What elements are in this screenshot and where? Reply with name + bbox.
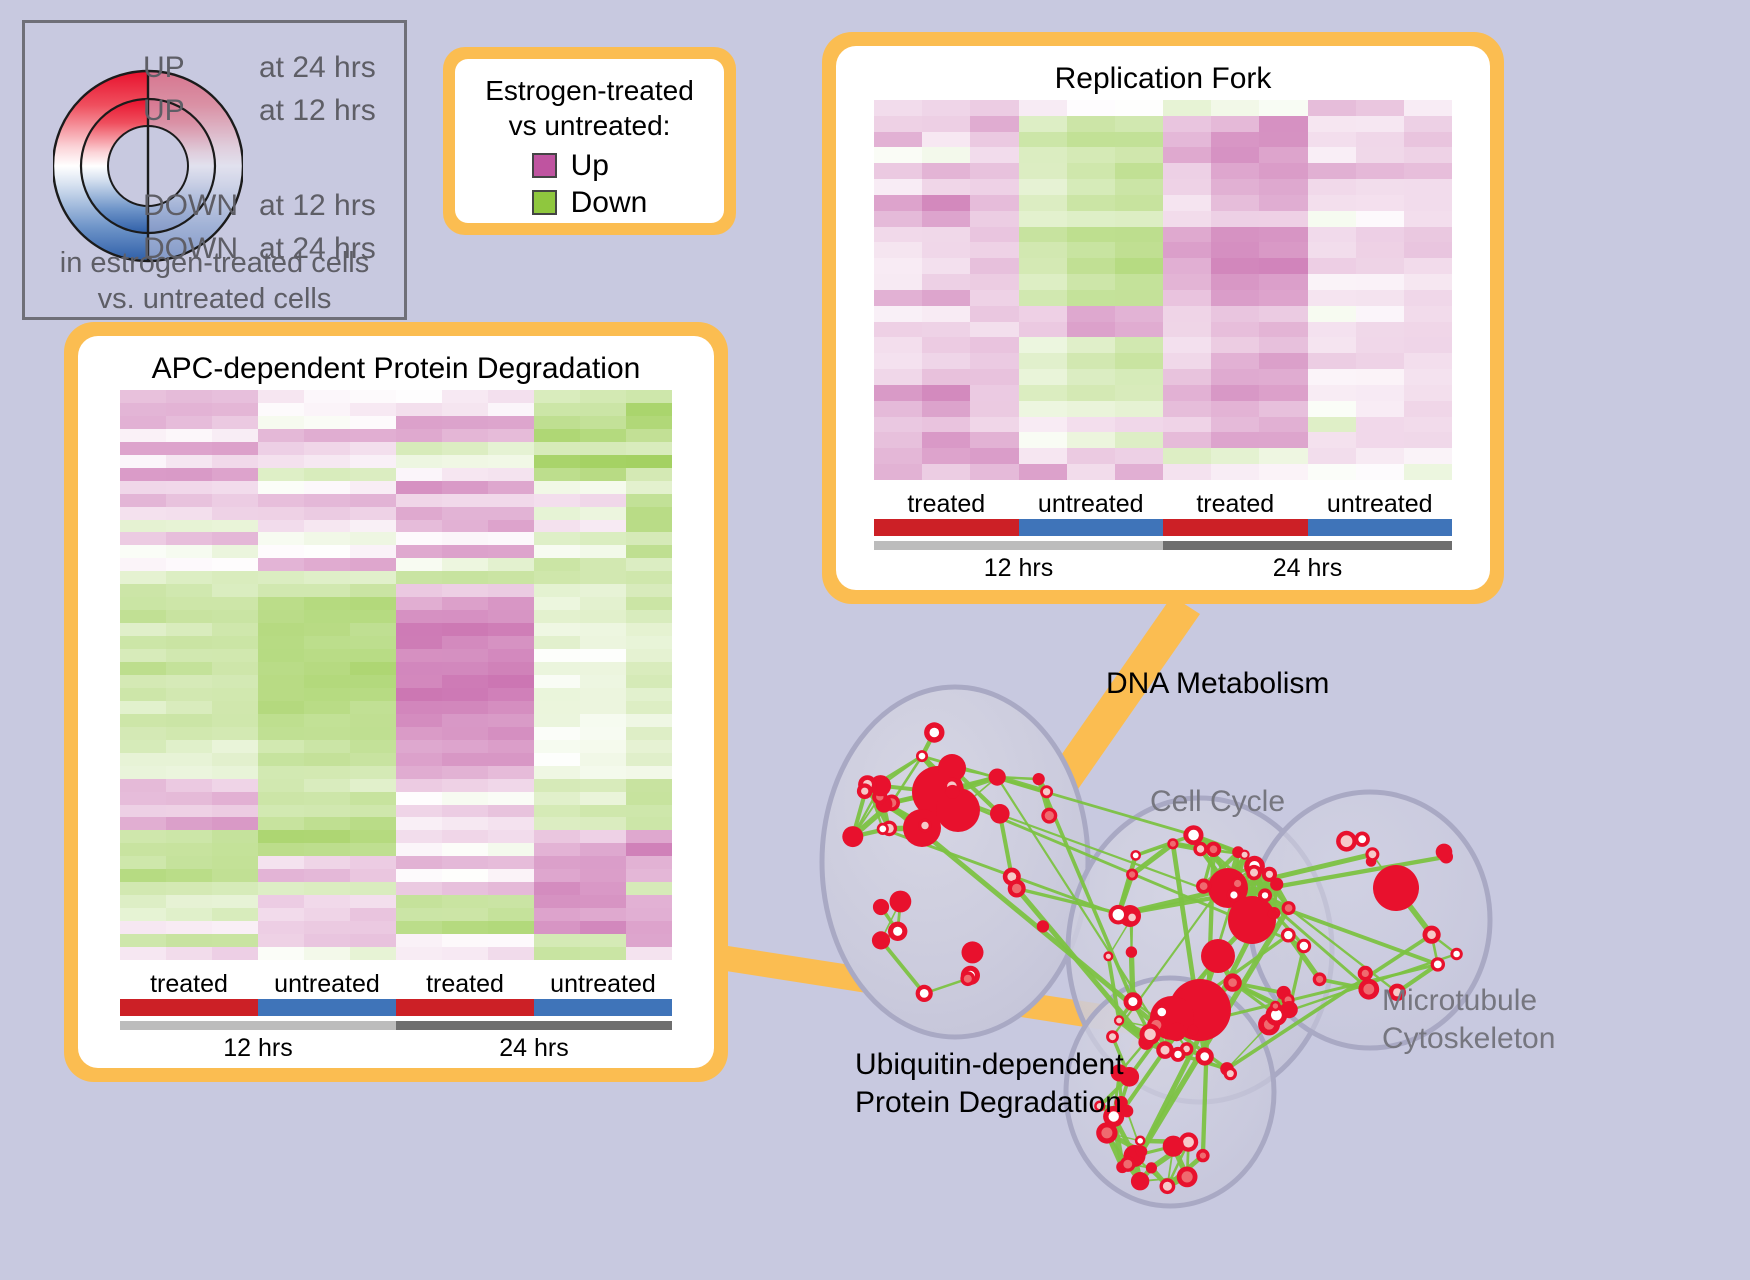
heatmap-cell: [304, 403, 350, 416]
group-label: untreated: [534, 970, 672, 999]
cluster-label-ubiquitin-line1: Ubiquitin-dependent: [855, 1046, 1124, 1084]
heatmap-cell: [488, 636, 534, 649]
cluster-label-dna-metabolism: DNA Metabolism: [1106, 665, 1329, 703]
heatmap-cell: [350, 429, 396, 442]
heatmap-cell: [166, 882, 212, 895]
heatmap-cell: [1308, 464, 1356, 480]
heatmap-cell: [258, 597, 304, 610]
heatmap-cell: [258, 727, 304, 740]
heatmap-cell: [350, 934, 396, 947]
network-node-core: [919, 753, 926, 760]
heatmap-cell: [120, 779, 166, 792]
figure-canvas: UP at 24 hrs UP at 12 hrs DOWN at 12 hrs…: [0, 0, 1750, 1279]
heatmap-cell: [350, 792, 396, 805]
network-node-core: [1163, 1182, 1172, 1191]
heatmap-cell: [120, 701, 166, 714]
heatmap-cell: [166, 571, 212, 584]
network-node-core: [1128, 997, 1137, 1006]
heatmap-cell: [442, 766, 488, 779]
heatmap-cell: [534, 455, 580, 468]
group-label: treated: [874, 490, 1019, 519]
heatmap-cell: [258, 805, 304, 818]
heatmap-cell: [922, 290, 970, 306]
heatmap-cell: [1019, 211, 1067, 227]
replication-fork-axis: treated untreated treated untreated 12 h: [874, 490, 1452, 583]
replication-fork-panel: Replication Fork treated untreated treat…: [822, 32, 1504, 604]
colorbar-time: at 12 hrs: [259, 94, 376, 128]
heatmap-cell: [258, 701, 304, 714]
heatmap-cell: [626, 610, 672, 623]
heatmap-cell: [166, 701, 212, 714]
heatmap-cell: [442, 532, 488, 545]
heatmap-cell: [166, 558, 212, 571]
heatmap-cell: [166, 714, 212, 727]
colorbar-time: at 24 hrs: [259, 51, 376, 85]
heatmap-cell: [626, 468, 672, 481]
network-node: [990, 804, 1010, 824]
heatmap-cell: [1259, 258, 1307, 274]
heatmap-cell: [1019, 274, 1067, 290]
heatmap-cell: [874, 401, 922, 417]
heatmap-cell: [580, 882, 626, 895]
heatmap-cell: [534, 856, 580, 869]
heatmap-cell: [442, 701, 488, 714]
heatmap-cell: [580, 481, 626, 494]
heatmap-cell: [1115, 306, 1163, 322]
heatmap-cell: [258, 390, 304, 403]
heatmap-cell: [1163, 417, 1211, 433]
network-node: [1131, 1172, 1149, 1190]
heatmap-cell: [166, 856, 212, 869]
heatmap-cell: [626, 636, 672, 649]
heatmap-cell: [534, 636, 580, 649]
heatmap-cell: [534, 507, 580, 520]
heatmap-cell: [350, 675, 396, 688]
heatmap-cell: [442, 416, 488, 429]
heatmap-cell: [1308, 242, 1356, 258]
heatmap-cell: [534, 908, 580, 921]
heatmap-cell: [304, 507, 350, 520]
heatmap-cell: [442, 947, 488, 960]
heatmap-cell: [442, 869, 488, 882]
heatmap-cell: [488, 856, 534, 869]
heatmap-cell: [304, 455, 350, 468]
heatmap-cell: [1259, 195, 1307, 211]
heatmap-cell: [442, 429, 488, 442]
heatmap-cell: [580, 468, 626, 481]
heatmap-cell: [874, 417, 922, 433]
network-node-core: [964, 975, 972, 983]
heatmap-cell: [1404, 432, 1452, 448]
heatmap-cell: [874, 147, 922, 163]
timepoint-color-bar: [120, 1021, 672, 1030]
heatmap-cell: [258, 830, 304, 843]
heatmap-cell: [212, 805, 258, 818]
heatmap-cell: [120, 947, 166, 960]
heatmap-cell: [1404, 195, 1452, 211]
heatmap-cell: [1019, 401, 1067, 417]
heatmap-cell: [1115, 322, 1163, 338]
heatmap-cell: [1211, 464, 1259, 480]
heatmap-cell: [120, 403, 166, 416]
heatmap-cell: [304, 610, 350, 623]
heatmap-cell: [874, 448, 922, 464]
heatmap-cell: [1067, 100, 1115, 116]
heatmap-cell: [1211, 417, 1259, 433]
heatmap-cell: [1404, 163, 1452, 179]
network-node: [946, 785, 960, 799]
group-label: treated: [396, 970, 534, 999]
heatmap-cell: [534, 934, 580, 947]
heatmap-cell: [534, 792, 580, 805]
heatmap-cell: [1067, 306, 1115, 322]
network-node-core: [1262, 892, 1268, 898]
heatmap-cell: [488, 545, 534, 558]
heatmap-cell: [626, 817, 672, 830]
heatmap-cell: [350, 571, 396, 584]
heatmap-cell: [1115, 337, 1163, 353]
heatmap-cell: [1163, 227, 1211, 243]
expression-colorbar-legend: UP at 24 hrs UP at 12 hrs DOWN at 12 hrs…: [22, 20, 407, 320]
heatmap-cell: [304, 701, 350, 714]
heatmap-cell: [396, 520, 442, 533]
group-label: treated: [120, 970, 258, 999]
heatmap-cell: [1163, 432, 1211, 448]
heatmap-cell: [212, 947, 258, 960]
heatmap-cell: [1019, 417, 1067, 433]
heatmap-cell: [874, 179, 922, 195]
heatmap-cell: [304, 636, 350, 649]
network-node-core: [1230, 891, 1237, 898]
heatmap-cell: [212, 727, 258, 740]
heatmap-cell: [1067, 179, 1115, 195]
heatmap-cell: [1067, 132, 1115, 148]
heatmap-cell: [396, 636, 442, 649]
heatmap-cell: [580, 675, 626, 688]
colorbar-time: at 12 hrs: [259, 189, 376, 223]
heatmap-cell: [442, 390, 488, 403]
heatmap-cell: [534, 869, 580, 882]
heatmap-cell: [874, 464, 922, 480]
network-node-core: [1358, 835, 1366, 843]
heatmap-cell: [1308, 369, 1356, 385]
heatmap-cell: [1259, 100, 1307, 116]
heatmap-cell: [580, 610, 626, 623]
heatmap-cell: [488, 429, 534, 442]
heatmap-cell: [212, 792, 258, 805]
heatmap-cell: [970, 116, 1018, 132]
heatmap-cell: [1356, 147, 1404, 163]
heatmap-cell: [258, 623, 304, 636]
heatmap-cell: [1019, 147, 1067, 163]
heatmap-cell: [1019, 242, 1067, 258]
heatmap-cell: [258, 610, 304, 623]
heatmap-cell: [1259, 401, 1307, 417]
heatmap-cell: [1067, 417, 1115, 433]
heatmap-cell: [580, 390, 626, 403]
heatmap-cell: [304, 740, 350, 753]
heatmap-cell: [488, 532, 534, 545]
heatmap-cell: [580, 455, 626, 468]
heatmap-cell: [442, 921, 488, 934]
heatmap-cell: [396, 921, 442, 934]
colorbar-footer-line1: in estrogen-treated cells: [25, 245, 404, 281]
heatmap-cell: [580, 740, 626, 753]
heatmap-cell: [874, 322, 922, 338]
heatmap-cell: [1163, 116, 1211, 132]
heatmap-cell: [350, 662, 396, 675]
replication-fork-title: Replication Fork: [836, 62, 1490, 96]
heatmap-cell: [1019, 195, 1067, 211]
treatment-segment: [1163, 519, 1308, 536]
network-node-core: [1273, 1003, 1278, 1008]
heatmap-cell: [304, 895, 350, 908]
heatmap-cell: [922, 369, 970, 385]
heatmap-cell: [212, 856, 258, 869]
heatmap-cell: [488, 869, 534, 882]
heatmap-cell: [350, 882, 396, 895]
network-node-core: [1197, 845, 1204, 852]
heatmap-cell: [1163, 322, 1211, 338]
heatmap-cell: [258, 779, 304, 792]
heatmap-cell: [120, 455, 166, 468]
heatmap-cell: [534, 662, 580, 675]
heatmap-cell: [1404, 369, 1452, 385]
heatmap-cell: [1308, 306, 1356, 322]
heatmap-cell: [350, 921, 396, 934]
heatmap-cell: [396, 766, 442, 779]
network-node: [1228, 896, 1276, 944]
heatmap-cell: [120, 805, 166, 818]
heatmap-cell: [120, 662, 166, 675]
heatmap-cell: [1115, 163, 1163, 179]
heatmap-cell: [1404, 337, 1452, 353]
heatmap-cell: [396, 830, 442, 843]
heatmap-cell: [442, 558, 488, 571]
heatmap-cell: [304, 727, 350, 740]
heatmap-cell: [396, 558, 442, 571]
heatmap-cell: [970, 179, 1018, 195]
heatmap-cell: [1163, 448, 1211, 464]
heatmap-cell: [396, 792, 442, 805]
heatmap-cell: [304, 416, 350, 429]
heatmap-cell: [970, 432, 1018, 448]
heatmap-cell: [534, 921, 580, 934]
heatmap-cell: [1211, 258, 1259, 274]
heatmap-cell: [258, 817, 304, 830]
heatmap-cell: [396, 468, 442, 481]
heatmap-cell: [442, 805, 488, 818]
heatmap-cell: [922, 147, 970, 163]
timepoint-segment: [120, 1021, 396, 1030]
network-node-core: [1200, 1153, 1206, 1159]
heatmap-cell: [304, 584, 350, 597]
heatmap-cell: [488, 843, 534, 856]
network-node: [1436, 844, 1453, 861]
heatmap-cell: [1163, 211, 1211, 227]
heatmap-cell: [258, 908, 304, 921]
heatmap-cell: [534, 532, 580, 545]
heatmap-cell: [166, 636, 212, 649]
heatmap-cell: [626, 623, 672, 636]
heatmap-cell: [626, 869, 672, 882]
network-node: [1201, 939, 1235, 973]
network-node-core: [1341, 835, 1353, 847]
heatmap-cell: [488, 921, 534, 934]
heatmap-cell: [488, 727, 534, 740]
heatmap-cell: [350, 779, 396, 792]
timepoint-label: 12 hrs: [120, 1034, 396, 1063]
apc-degradation-axis: treated untreated treated untreated 12 h: [120, 970, 672, 1063]
heatmap-cell: [488, 817, 534, 830]
heatmap-cell: [1259, 417, 1307, 433]
heatmap-cell: [166, 817, 212, 830]
heatmap-cell: [488, 701, 534, 714]
heatmap-cell: [212, 675, 258, 688]
network-node-core: [1200, 1052, 1209, 1061]
heatmap-cell: [1019, 132, 1067, 148]
heatmap-cell: [350, 817, 396, 830]
heatmap-cell: [396, 701, 442, 714]
heatmap-cell: [1308, 401, 1356, 417]
timepoint-label: 24 hrs: [1163, 554, 1452, 583]
heatmap-cell: [350, 532, 396, 545]
heatmap-cell: [120, 468, 166, 481]
heatmap-cell: [120, 792, 166, 805]
heatmap-cell: [488, 442, 534, 455]
heatmap-cell: [1211, 116, 1259, 132]
heatmap-cell: [1067, 258, 1115, 274]
heatmap-cell: [1067, 432, 1115, 448]
heatmap-cell: [534, 390, 580, 403]
network-node-core: [1362, 970, 1369, 977]
heatmap-cell: [874, 100, 922, 116]
heatmap-cell: [442, 740, 488, 753]
heatmap-cell: [1356, 211, 1404, 227]
heatmap-cell: [304, 532, 350, 545]
heatmap-cell: [626, 934, 672, 947]
heatmap-cell: [212, 481, 258, 494]
heatmap-cell: [580, 869, 626, 882]
heatmap-cell: [922, 385, 970, 401]
down-color-swatch: [532, 190, 557, 215]
heatmap-cell: [1308, 448, 1356, 464]
heatmap-cell: [580, 507, 626, 520]
heatmap-cell: [212, 921, 258, 934]
heatmap-cell: [442, 455, 488, 468]
heatmap-cell: [258, 636, 304, 649]
group-label: treated: [1163, 490, 1308, 519]
heatmap-cell: [1067, 147, 1115, 163]
heatmap-cell: [212, 520, 258, 533]
heatmap-cell: [120, 753, 166, 766]
heatmap-cell: [1259, 147, 1307, 163]
heatmap-cell: [922, 417, 970, 433]
heatmap-cell: [396, 727, 442, 740]
heatmap-cell: [488, 662, 534, 675]
heatmap-cell: [1211, 195, 1259, 211]
heatmap-cell: [350, 610, 396, 623]
heatmap-cell: [874, 274, 922, 290]
heatmap-cell: [212, 468, 258, 481]
heatmap-cell: [442, 649, 488, 662]
heatmap-cell: [970, 369, 1018, 385]
network-node-core: [1144, 1029, 1155, 1040]
heatmap-cell: [304, 805, 350, 818]
heatmap-cell: [1308, 132, 1356, 148]
heatmap-cell: [258, 934, 304, 947]
heatmap-cell: [1356, 448, 1404, 464]
heatmap-cell: [626, 649, 672, 662]
heatmap-cell: [166, 468, 212, 481]
heatmap-cell: [212, 830, 258, 843]
heatmap-cell: [922, 163, 970, 179]
heatmap-cell: [488, 558, 534, 571]
heatmap-cell: [166, 403, 212, 416]
colorbar-footer-line2: vs. untreated cells: [25, 281, 404, 317]
heatmap-cell: [626, 662, 672, 675]
heatmap-cell: [1211, 211, 1259, 227]
colorbar-direction: DOWN: [143, 189, 259, 223]
heatmap-cell: [1308, 322, 1356, 338]
heatmap-cell: [580, 908, 626, 921]
up-color-swatch: [532, 153, 557, 178]
heatmap-cell: [1259, 227, 1307, 243]
heatmap-cell: [1019, 100, 1067, 116]
heatmap-cell: [1163, 163, 1211, 179]
heatmap-cell: [488, 403, 534, 416]
heatmap-cell: [350, 649, 396, 662]
network-node: [873, 899, 889, 915]
heatmap-cell: [1115, 179, 1163, 195]
heatmap-cell: [1404, 211, 1452, 227]
heatmap-cell: [258, 442, 304, 455]
heatmap-cell: [1115, 385, 1163, 401]
heatmap-cell: [258, 403, 304, 416]
heatmap-cell: [534, 701, 580, 714]
colorbar-row: UP at 24 hrs: [143, 51, 403, 94]
heatmap-cell: [442, 779, 488, 792]
heatmap-cell: [1211, 322, 1259, 338]
heatmap-cell: [1067, 353, 1115, 369]
timepoint-segment: [874, 541, 1163, 550]
heatmap-cell: [396, 740, 442, 753]
heatmap-cell: [212, 623, 258, 636]
heatmap-cell: [442, 675, 488, 688]
heatmap-cell: [874, 163, 922, 179]
timepoint-label: 12 hrs: [874, 554, 1163, 583]
heatmap-cell: [396, 494, 442, 507]
heatmap-cell: [1067, 211, 1115, 227]
heatmap-cell: [1259, 385, 1307, 401]
heatmap-cell: [1259, 432, 1307, 448]
heatmap-cell: [970, 448, 1018, 464]
heatmap-cell: [396, 584, 442, 597]
heatmap-cell: [350, 494, 396, 507]
heatmap-cell: [396, 571, 442, 584]
heatmap-cell: [350, 869, 396, 882]
heatmap-cell: [304, 688, 350, 701]
timepoint-labels: 12 hrs 24 hrs: [120, 1034, 672, 1063]
heatmap-cell: [1356, 132, 1404, 148]
heatmap-cell: [1163, 464, 1211, 480]
heatmap-cell: [258, 675, 304, 688]
heatmap-cell: [1259, 290, 1307, 306]
heatmap-cell: [350, 545, 396, 558]
heatmap-cell: [212, 507, 258, 520]
heatmap-cell: [166, 727, 212, 740]
heatmap-cell: [258, 416, 304, 429]
